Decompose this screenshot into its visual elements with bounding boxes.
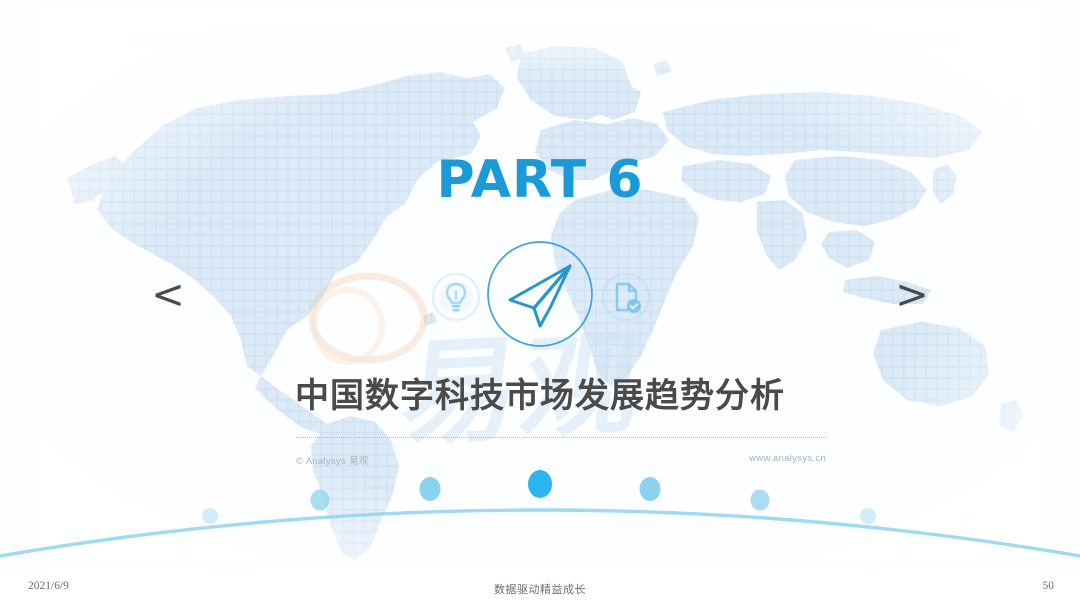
chevron-right-icon[interactable]: > <box>892 272 932 318</box>
progress-arc-svg <box>0 455 1080 568</box>
progress-dot-4 <box>640 477 661 501</box>
progress-arc <box>0 455 1080 568</box>
slide-canvas: 易观 PART 6 <box>0 0 1080 568</box>
paper-plane-icon <box>484 238 596 350</box>
progress-dot-6 <box>860 508 876 524</box>
footer-page-number: 50 <box>1043 580 1055 592</box>
progress-dot-1 <box>311 490 330 511</box>
page-title: 中国数字科技市场发展趋势分析 <box>0 368 1080 417</box>
slide-footer: 2021/6/9 数据驱动精益成长 50 <box>0 568 1080 608</box>
lightbulb-icon <box>430 271 482 323</box>
part-heading: PART 6 <box>0 150 1080 210</box>
footer-tagline: 数据驱动精益成长 <box>0 581 1080 597</box>
chevron-left-icon[interactable]: < <box>148 272 188 318</box>
divider <box>296 437 826 439</box>
document-check-icon <box>600 271 652 323</box>
progress-dot-0 <box>202 508 218 524</box>
progress-dot-3 <box>528 470 552 498</box>
progress-dot-5 <box>751 490 770 511</box>
presentation-slide: 易观 PART 6 <box>0 0 1080 608</box>
progress-dot-2 <box>420 477 441 501</box>
